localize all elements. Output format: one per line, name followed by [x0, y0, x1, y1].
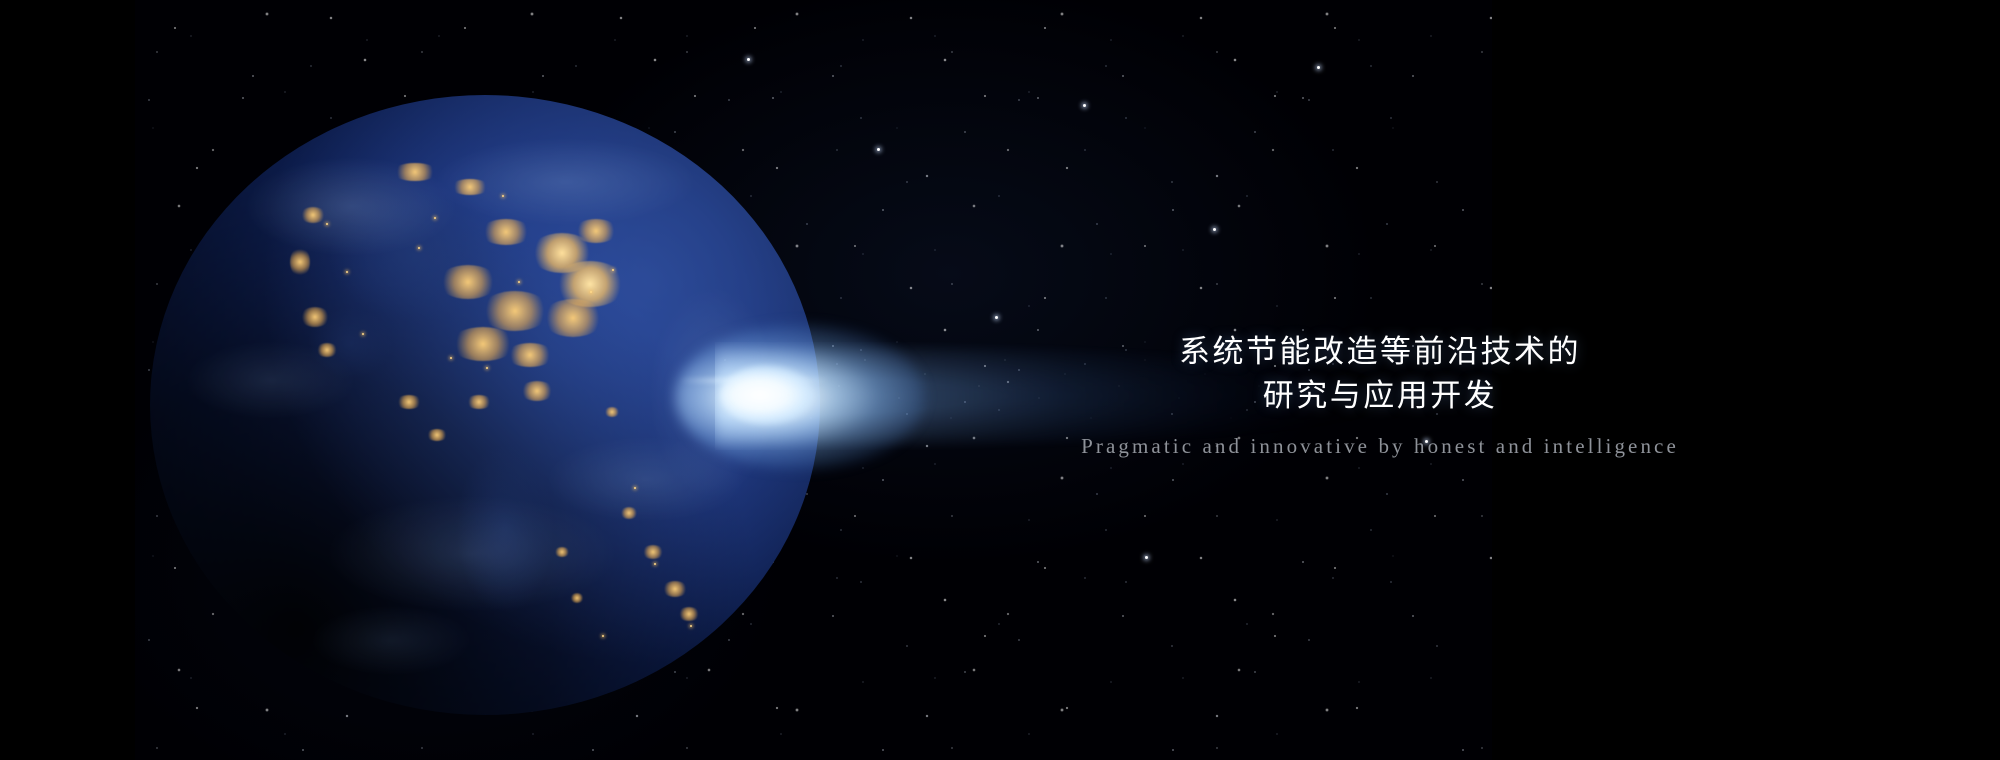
bright-star	[1213, 228, 1216, 231]
bright-star	[1317, 66, 1320, 69]
bright-star	[1083, 104, 1086, 107]
earth-globe	[150, 95, 820, 715]
earth-sphere	[150, 95, 820, 715]
bright-star	[995, 316, 998, 319]
banner-photo	[135, 0, 1492, 760]
bright-star	[1145, 556, 1148, 559]
comet-tail	[715, 342, 1415, 450]
comet-tail-grain	[715, 346, 1415, 446]
earth-clouds	[150, 95, 820, 715]
bright-star	[1425, 440, 1428, 443]
bright-star	[747, 58, 750, 61]
hero-banner: 系统节能改造等前沿技术的 研究与应用开发 Pragmatic and innov…	[0, 0, 2000, 760]
bright-star	[877, 148, 880, 151]
